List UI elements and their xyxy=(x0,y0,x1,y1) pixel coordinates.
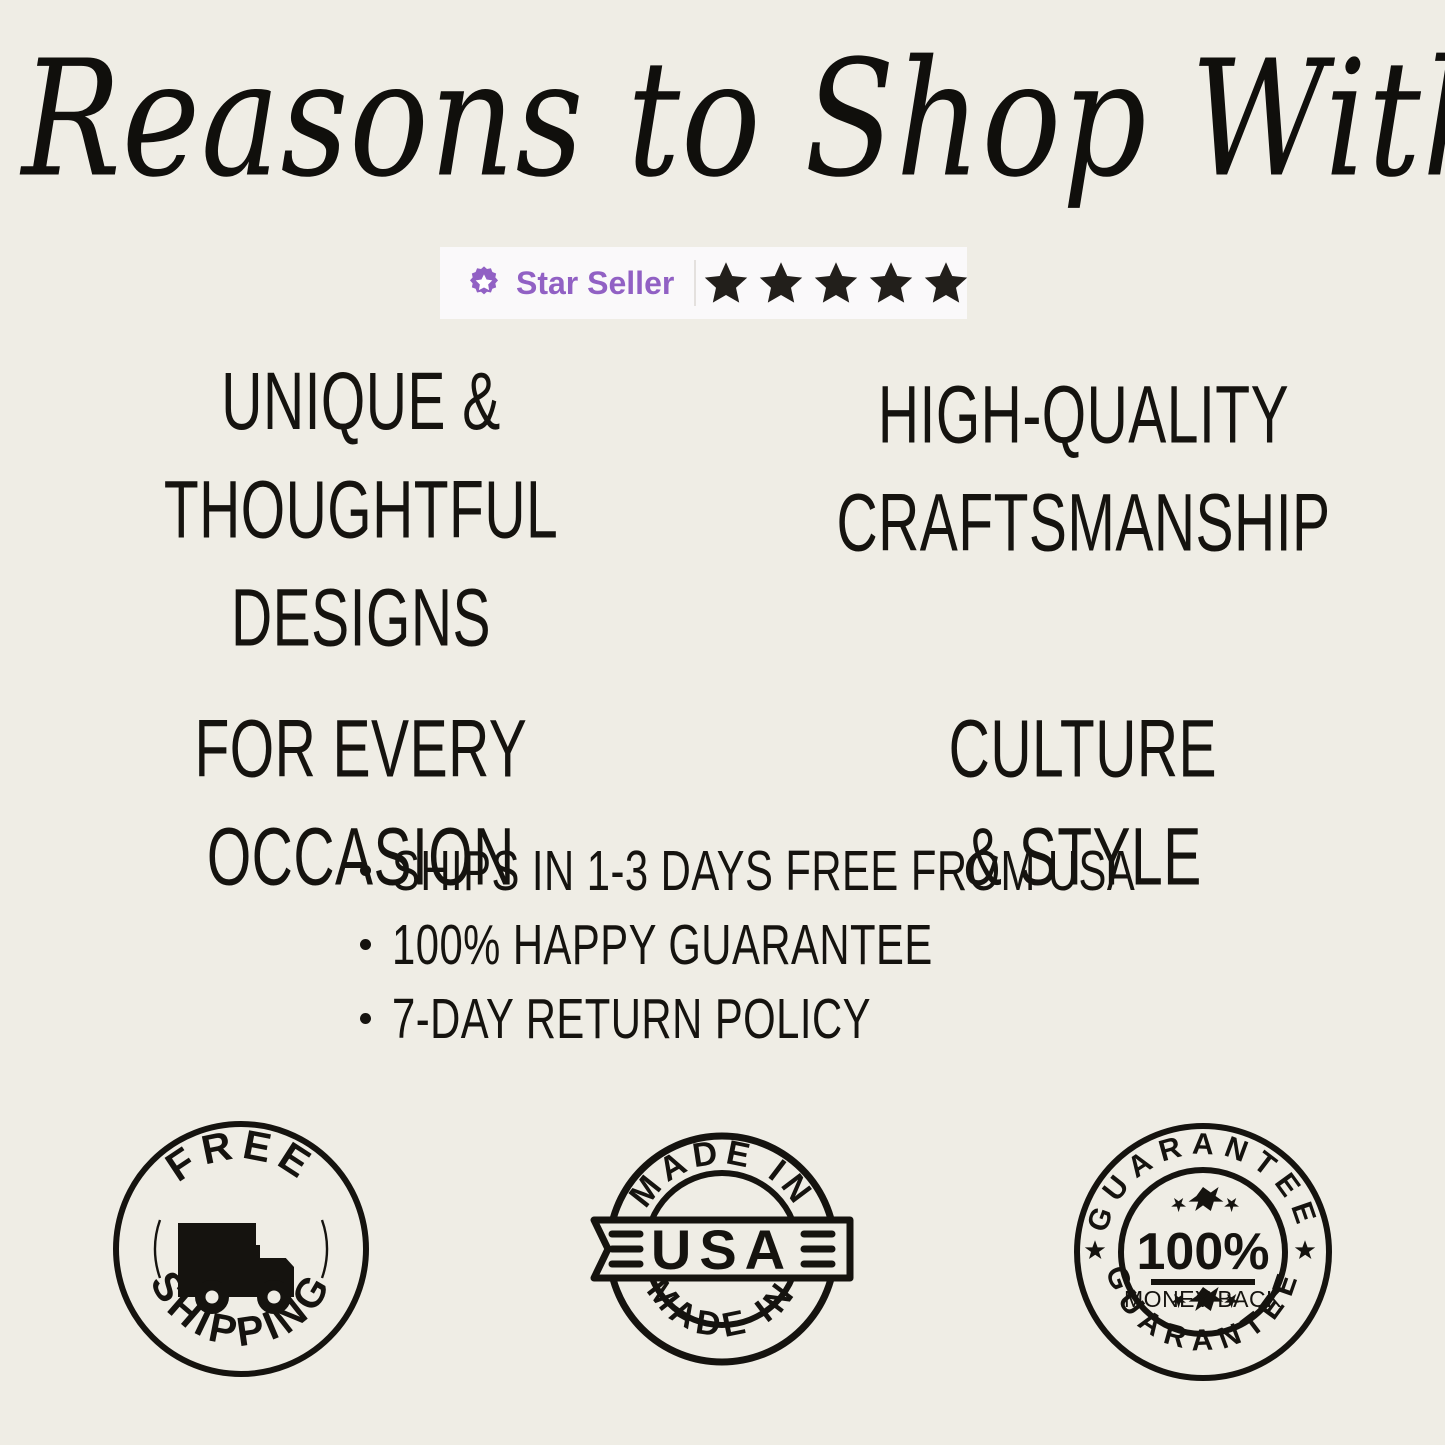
list-item: 100% HAPPY GUARANTEE xyxy=(360,922,1260,970)
guarantee-seal: GUARANTEE GUARANTEE 100% MONEY B xyxy=(1069,1118,1337,1386)
page-title: Reasons to Shop With Us xyxy=(22,40,1424,200)
list-item-label: 7-DAY RETURN POLICY xyxy=(392,989,871,1050)
promo-infographic: Reasons to Shop With Us Star Seller xyxy=(0,0,1445,1445)
page-title-container: Reasons to Shop With Us xyxy=(0,40,1445,176)
star-seller-badge: Star Seller xyxy=(440,247,967,319)
svg-text:FREE: FREE xyxy=(157,1121,324,1190)
star-rating xyxy=(696,259,970,307)
feature-unique-designs: UNIQUE & THOUGHTFUL DESIGNS xyxy=(0,388,722,634)
policy-list: SHIPS IN 1-3 DAYS FREE FROM USA 100% HAP… xyxy=(360,848,1260,1070)
feature-line: UNIQUE & xyxy=(29,349,693,457)
free-shipping-top-text: FREE xyxy=(157,1121,324,1190)
svg-text:MADE IN: MADE IN xyxy=(639,1272,804,1345)
star-seller-label: Star Seller xyxy=(516,265,674,301)
star-seller-label-group: Star Seller xyxy=(440,247,694,319)
feature-line: CRAFTSMANSHIP xyxy=(836,470,1330,578)
star-seller-rosette-icon xyxy=(466,265,502,301)
made-in-bottom-text: MADE IN xyxy=(639,1272,804,1345)
guarantee-percent-value: 100% xyxy=(1136,1223,1269,1281)
delivery-truck-icon xyxy=(178,1223,294,1314)
usa-banner-text: USA xyxy=(650,1218,792,1281)
list-item: SHIPS IN 1-3 DAYS FREE FROM USA xyxy=(360,848,1260,896)
bullet-dot-icon xyxy=(360,939,371,950)
star-seller-text-block: Star Seller xyxy=(516,266,674,300)
feature-high-quality: HIGH-QUALITY CRAFTSMANSHIP xyxy=(722,388,1444,634)
bullet-dot-icon xyxy=(360,1013,371,1024)
star-icon xyxy=(1224,1198,1239,1212)
guarantee-caption: MONEY BACK xyxy=(1124,1286,1282,1312)
made-in-usa-badge: MADE IN MADE IN USA xyxy=(481,1118,962,1386)
trust-badge-row: FREE SHIPPING xyxy=(0,1118,1445,1386)
feature-line: THOUGHTFUL DESIGNS xyxy=(29,457,693,673)
star-icon xyxy=(812,259,860,307)
feature-line: HIGH-QUALITY xyxy=(836,362,1330,470)
star-icon xyxy=(1084,1240,1104,1259)
star-icon xyxy=(1171,1198,1186,1212)
svg-text:GUARANTEE: GUARANTEE xyxy=(1080,1127,1324,1235)
list-item-label: 100% HAPPY GUARANTEE xyxy=(392,915,933,976)
star-icon xyxy=(757,259,805,307)
list-item-label: SHIPS IN 1-3 DAYS FREE FROM USA xyxy=(392,841,1135,902)
feature-line: CULTURE xyxy=(949,696,1217,804)
money-back-guarantee-badge: GUARANTEE GUARANTEE 100% MONEY B xyxy=(962,1118,1443,1386)
star-icon xyxy=(1188,1187,1223,1211)
bullet-dot-icon xyxy=(360,865,371,876)
star-icon xyxy=(867,259,915,307)
star-icon xyxy=(922,259,970,307)
free-shipping-badge: FREE SHIPPING xyxy=(0,1118,481,1386)
star-icon xyxy=(702,259,750,307)
feature-line: FOR EVERY xyxy=(195,696,528,804)
feature-grid: UNIQUE & THOUGHTFUL DESIGNS HIGH-QUALITY… xyxy=(0,388,1445,886)
free-shipping-seal: FREE SHIPPING xyxy=(110,1118,372,1380)
list-item: 7-DAY RETURN POLICY xyxy=(360,996,1260,1044)
star-icon xyxy=(1294,1240,1314,1259)
feature-row-1: UNIQUE & THOUGHTFUL DESIGNS HIGH-QUALITY… xyxy=(0,388,1445,634)
usa-banner: USA xyxy=(594,1218,850,1281)
guarantee-top-text: GUARANTEE xyxy=(1080,1127,1324,1235)
made-in-usa-seal: MADE IN MADE IN USA xyxy=(586,1118,858,1380)
